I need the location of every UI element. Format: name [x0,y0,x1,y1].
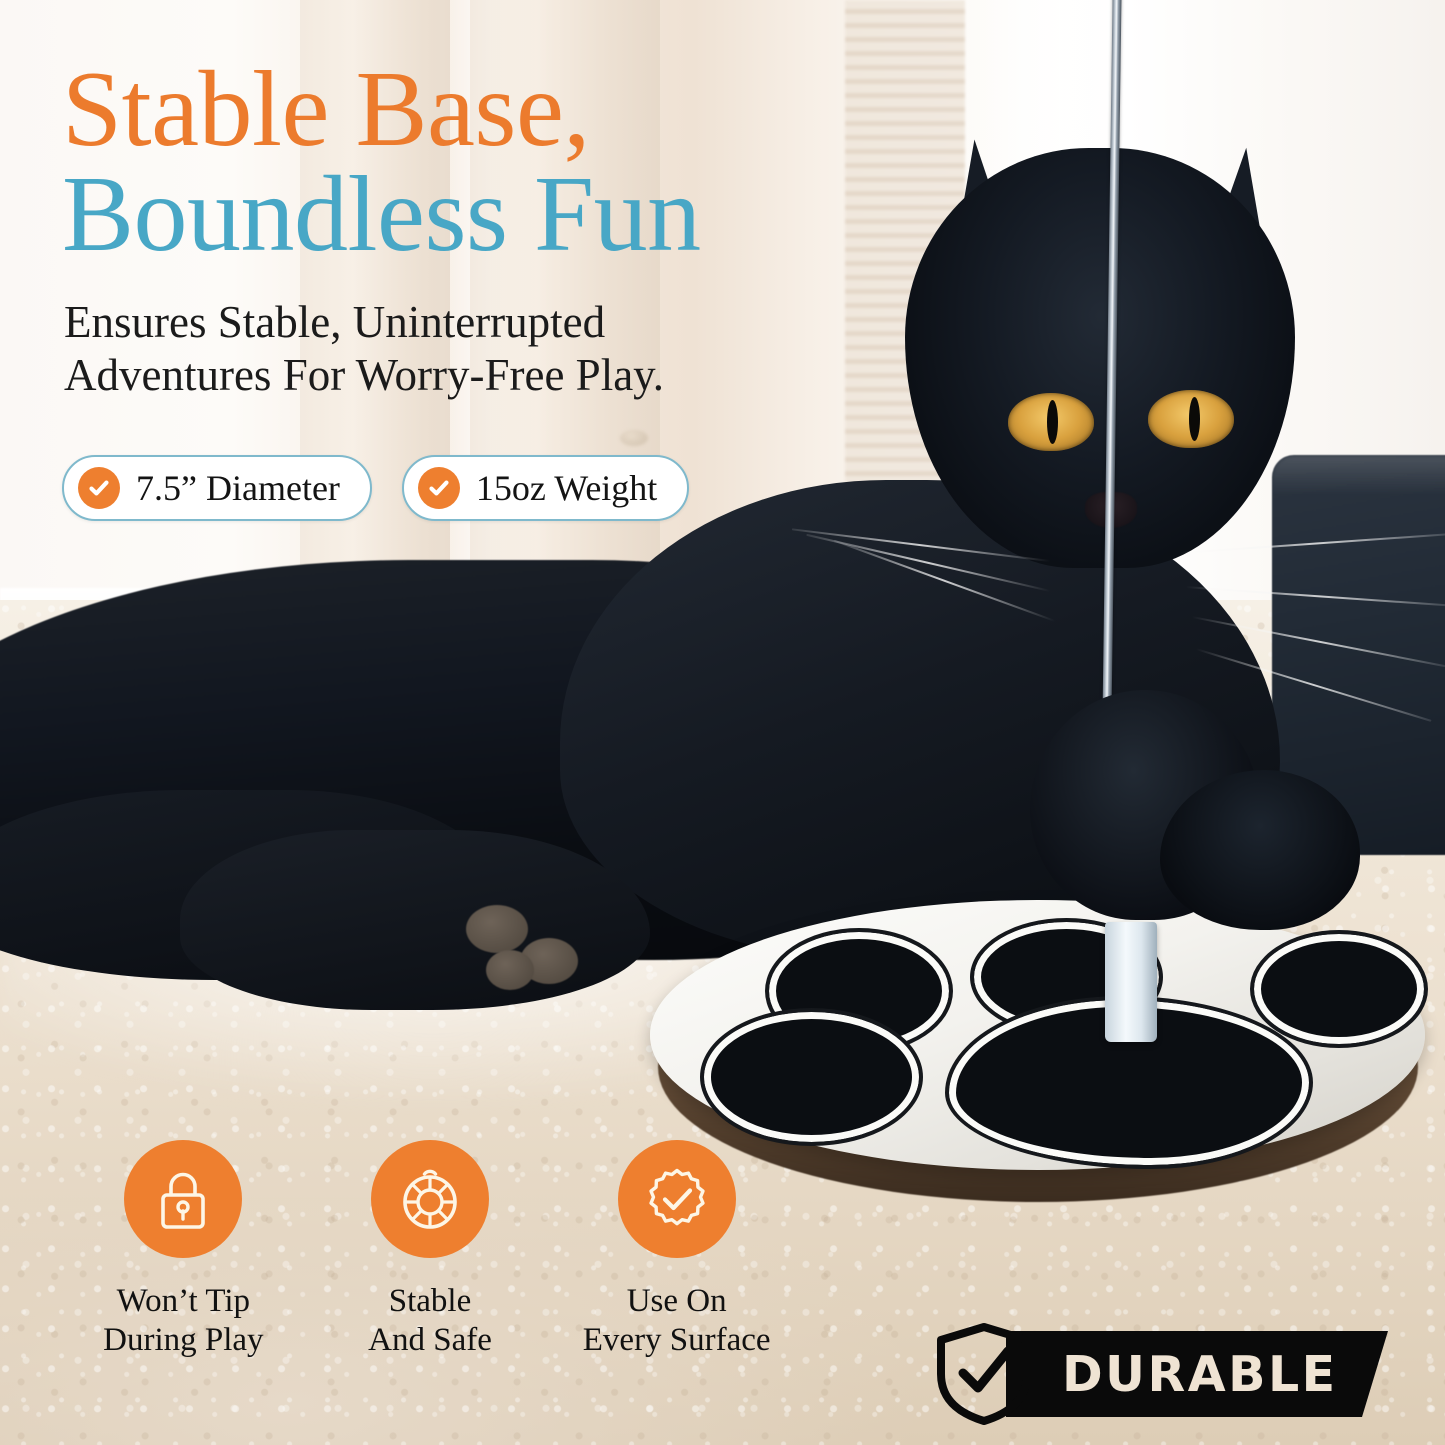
feature-every-surface: Use On Every Surface [553,1140,800,1360]
feature-label: Stable And Safe [368,1282,492,1360]
cat-hind-leg [180,830,650,1010]
door-knob [620,430,648,446]
pet-bed-highlight [1272,455,1445,495]
feature-label-line-1: Use On [583,1282,771,1321]
wand-post [1105,922,1157,1042]
spec-pill-label: 15oz Weight [476,467,657,509]
verified-badge-icon [618,1140,736,1258]
paw-toe-pad [1250,930,1428,1048]
paw-toe-pad [700,1008,923,1146]
headline-line-1: Stable Base, [62,58,942,163]
subheadline-line-1: Ensures Stable, Uninterrupted [64,296,854,349]
durable-label: DURABLE [1062,1350,1338,1399]
cat-pupil-right [1189,397,1200,441]
check-circle-icon [78,467,120,509]
feature-stable-safe: Stable And Safe [307,1140,554,1360]
durable-banner: DURABLE [1006,1331,1388,1417]
shield-check-icon [928,1318,1040,1430]
life-ring-icon [371,1140,489,1258]
durable-badge: DURABLE [928,1318,1388,1430]
feature-label-line-2: Every Surface [583,1321,771,1360]
headline-line-2: Boundless Fun [62,163,942,268]
feature-list: Won’t Tip During Play [60,1140,800,1360]
cat-eye-left [1008,393,1094,451]
cat-eye-right [1148,390,1234,448]
feature-label-line-1: Won’t Tip [103,1282,263,1321]
feature-label-line-2: During Play [103,1321,263,1360]
feature-label-line-2: And Safe [368,1321,492,1360]
spec-pill-label: 7.5” Diameter [136,467,340,509]
cat-paw-pad [486,950,534,990]
feature-label-line-1: Stable [368,1282,492,1321]
headline: Stable Base, Boundless Fun [62,58,942,268]
feature-label: Won’t Tip During Play [103,1282,263,1360]
spec-pill-group: 7.5” Diameter 15oz Weight [62,455,689,521]
padlock-icon [124,1140,242,1258]
cat-pupil-left [1047,400,1058,444]
spec-pill-diameter[interactable]: 7.5” Diameter [62,455,372,521]
product-infographic: Stable Base, Boundless Fun Ensures Stabl… [0,0,1445,1445]
check-circle-icon [418,467,460,509]
feature-label: Use On Every Surface [583,1282,771,1360]
subheadline-line-2: Adventures For Worry-Free Play. [64,349,854,402]
base-surface [650,900,1425,1170]
feature-wont-tip: Won’t Tip During Play [60,1140,307,1360]
spec-pill-weight[interactable]: 15oz Weight [402,455,689,521]
subheadline: Ensures Stable, Uninterrupted Adventures… [64,296,854,402]
cat-paw-pad [466,905,528,953]
